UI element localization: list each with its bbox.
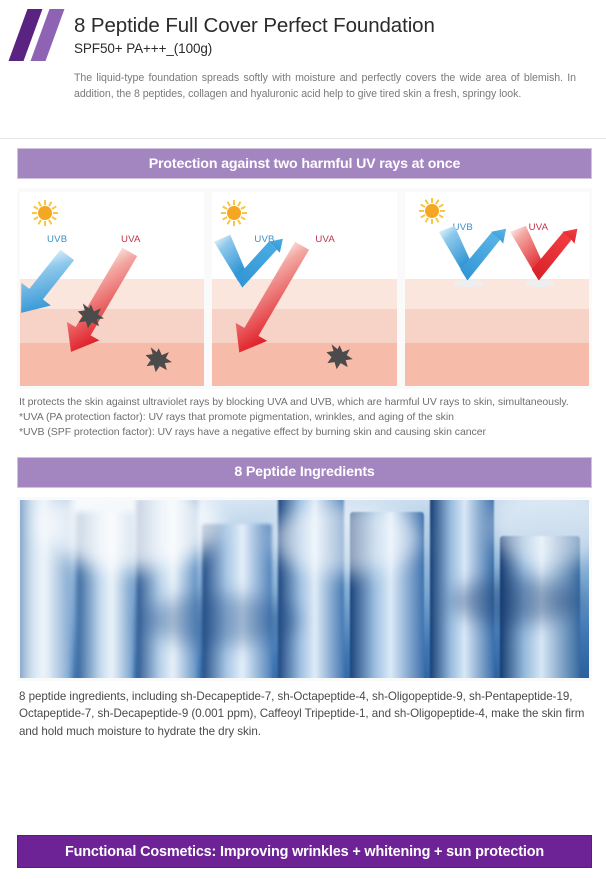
uv-description: It protects the skin against ultraviolet… [19, 395, 592, 440]
panel-unprotected: UVB UVA [20, 192, 204, 386]
damage-burst [146, 347, 172, 372]
footer-banner-wrap: Functional Cosmetics: Improving wrinkles… [0, 835, 606, 868]
double-slash-logo [14, 9, 66, 61]
uvb-arrow [20, 244, 82, 325]
section-banner-peptide: 8 Peptide Ingredients [17, 457, 592, 488]
product-description: The liquid-type foundation spreads softl… [74, 70, 576, 103]
panel-uvb-blocked: UVB UVA [212, 192, 396, 386]
photo-shadow [140, 595, 300, 645]
uv-description-line-1: It protects the skin against ultraviolet… [19, 395, 592, 410]
uvb-arrow-reflected [438, 226, 505, 287]
uvb-arrow-reflected [214, 235, 283, 288]
uv-arrows-panel-2 [212, 192, 396, 386]
peptide-description: 8 peptide ingredients, including sh-Deca… [19, 688, 592, 740]
uv-diagram: UVB UVA [17, 188, 592, 389]
uv-description-line-3: *UVB (SPF protection factor): UV rays ha… [19, 425, 592, 440]
product-subtitle: SPF50+ PA+++_(100g) [74, 41, 592, 56]
panel-both-blocked: UVB UVA [405, 192, 589, 386]
page-title: 8 Peptide Full Cover Perfect Foundation [74, 14, 592, 38]
uva-arrow-reflected [510, 226, 577, 287]
photo-canvas [20, 500, 589, 678]
section-banner-uv: Protection against two harmful UV rays a… [17, 148, 592, 179]
damage-burst [327, 344, 353, 369]
uv-arrows-panel-1 [20, 192, 204, 386]
header-divider [0, 138, 606, 139]
product-detail-page: 8 Peptide Full Cover Perfect Foundation … [0, 0, 606, 879]
header: 8 Peptide Full Cover Perfect Foundation … [0, 0, 606, 138]
uv-description-line-2: *UVA (PA protection factor): UV rays tha… [19, 410, 592, 425]
laboratory-test-tubes-photo [17, 497, 592, 681]
photo-highlight [270, 504, 420, 574]
title-block: 8 Peptide Full Cover Perfect Foundation … [74, 10, 592, 56]
photo-shadow [450, 578, 580, 624]
section-banner-functional: Functional Cosmetics: Improving wrinkles… [17, 835, 592, 868]
uv-arrows-panel-3 [405, 192, 589, 386]
